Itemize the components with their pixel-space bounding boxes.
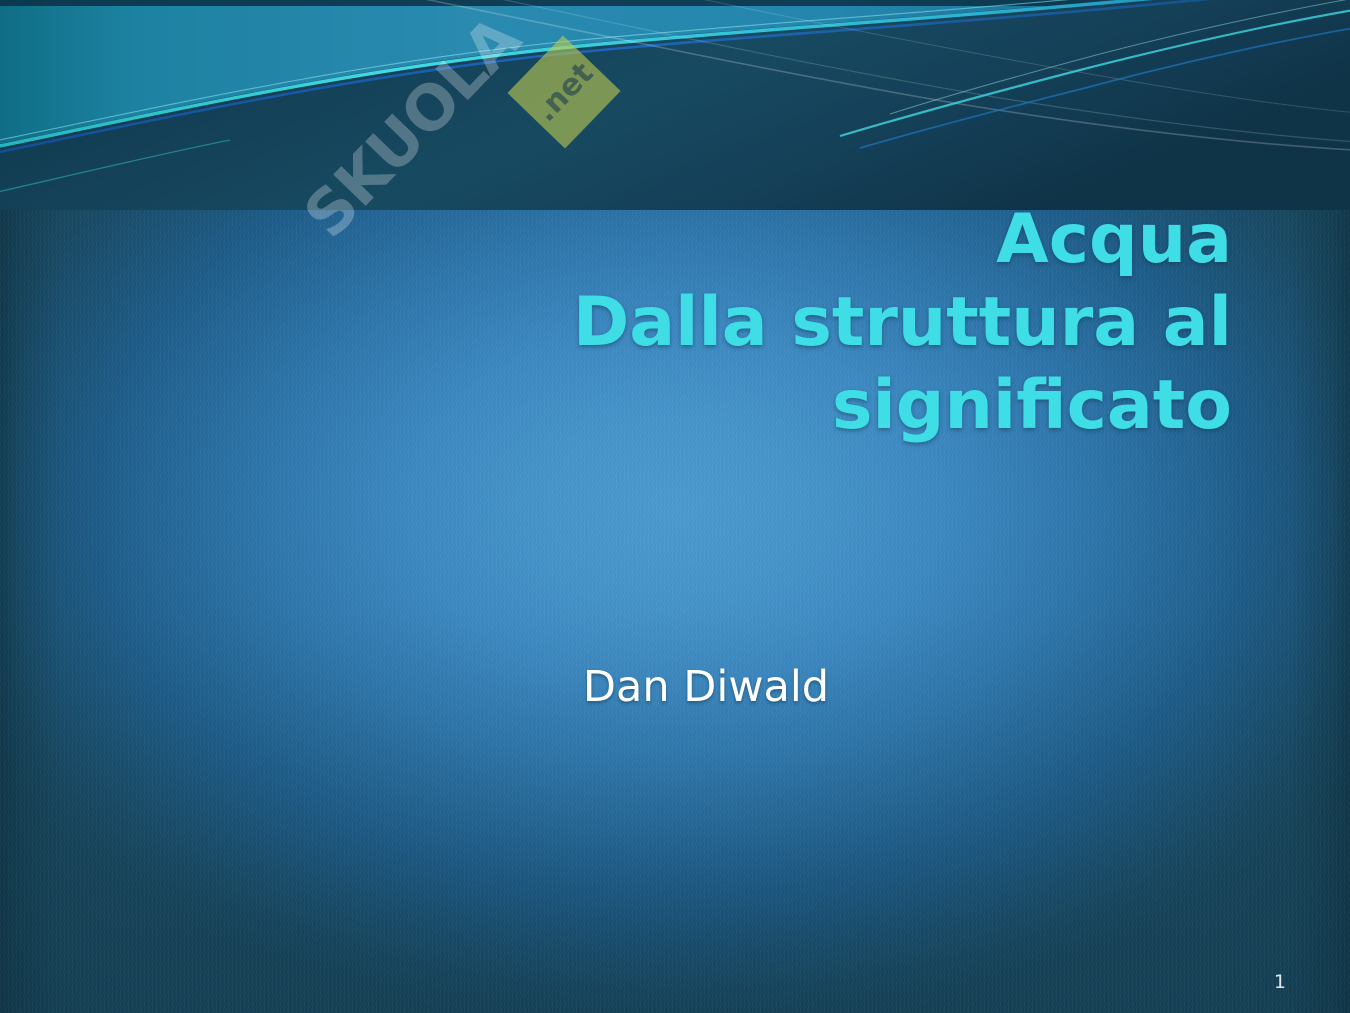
title-line-2: Dalla struttura al — [180, 281, 1232, 364]
top-ribbon-decoration — [0, 0, 1350, 210]
slide-subtitle: Dan Diwald — [180, 662, 1232, 712]
page-number: 1 — [1274, 971, 1286, 993]
presentation-slide: SKUOLA .net Acqua Dalla struttura al sig… — [0, 0, 1350, 1013]
author-name: Dan Diwald — [583, 662, 829, 712]
title-line-1: Acqua — [180, 198, 1232, 281]
title-line-3: significato — [180, 364, 1232, 447]
slide-title: Acqua Dalla struttura al significato — [180, 198, 1232, 447]
